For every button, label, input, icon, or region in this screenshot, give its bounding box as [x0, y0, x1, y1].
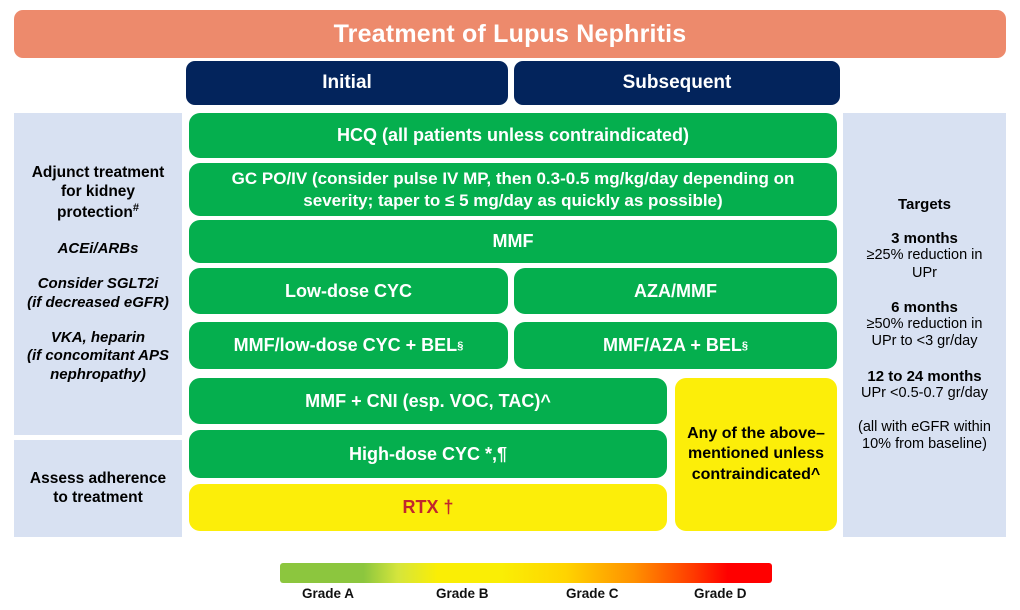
legend-label-grade-d: Grade D [694, 586, 747, 601]
grade-legend-labels: Grade A Grade B Grade C Grade D [280, 586, 772, 606]
mmf-aza-bel-marker: § [742, 340, 748, 352]
legend-label-grade-c: Grade C [566, 586, 619, 601]
target-6m-line1: ≥50% reduction in [867, 316, 983, 332]
treatment-box-mmf-cni: MMF + CNI (esp. VOC, TAC)^ [189, 378, 667, 424]
adjunct-title-line3: protection [57, 204, 133, 221]
vka-line1: VKA, heparin [51, 329, 145, 346]
target-3m-line2: UPr [912, 265, 937, 281]
adjunct-treatment-panel: Adjunct treatment for kidney protection#… [14, 113, 182, 435]
adherence-line2: to treatment [53, 489, 143, 506]
lupus-nephritis-treatment-diagram: Treatment of Lupus Nephritis Initial Sub… [0, 0, 1020, 610]
treatment-box-rtx: RTX † [189, 484, 667, 531]
adjunct-item-vka-heparin: VKA, heparin (if concomitant APS nephrop… [27, 329, 169, 384]
page-title: Treatment of Lupus Nephritis [14, 10, 1006, 58]
vka-line2: (if concomitant APS [27, 347, 169, 364]
treatment-box-mmf: MMF [189, 220, 837, 263]
any-above-line1: Any of the above– [687, 425, 825, 442]
legend-label-grade-b: Grade B [436, 586, 489, 601]
treatment-box-mmf-low-cyc-bel: MMF/low-dose CYC + BEL§ [189, 322, 508, 369]
column-header-subsequent: Subsequent [514, 61, 840, 105]
legend-label-grade-a: Grade A [302, 586, 354, 601]
grade-legend: Grade A Grade B Grade C Grade D [280, 563, 772, 606]
treatment-box-hcq: HCQ (all patients unless contraindicated… [189, 113, 837, 158]
target-desc-3-months: ≥25% reduction in UPr [867, 247, 983, 282]
target-desc-12-24-months: UPr <0.5-0.7 gr/day [861, 385, 988, 402]
adherence-line1: Assess adherence [30, 470, 166, 487]
treatment-box-aza-mmf: AZA/MMF [514, 268, 837, 314]
adjunct-item-acei-arbs: ACEi/ARBs [58, 240, 139, 258]
adjunct-title: Adjunct treatment for kidney protection# [32, 164, 165, 223]
gc-line1: GC PO/IV (consider pulse IV MP, then 0.3… [232, 169, 795, 188]
targets-note-line1: (all with eGFR within [858, 419, 991, 435]
adherence-text: Assess adherence to treatment [30, 470, 166, 508]
targets-note-line2: 10% from baseline) [862, 436, 987, 452]
treatment-box-low-dose-cyc: Low-dose CYC [189, 268, 508, 314]
targets-heading: Targets [898, 196, 951, 213]
adjunct-title-marker: # [133, 202, 139, 214]
rtx-label: RTX † [402, 497, 453, 518]
any-above-line2: mentioned unless [688, 445, 824, 462]
column-header-initial: Initial [186, 61, 508, 105]
sglt2i-line1: Consider SGLT2i [38, 275, 159, 292]
treatment-box-mmf-aza-bel: MMF/AZA + BEL§ [514, 322, 837, 369]
target-term-12-24-months: 12 to 24 months [867, 368, 981, 385]
adjunct-item-sglt2i: Consider SGLT2i (if decreased eGFR) [27, 275, 169, 312]
any-above-text: Any of the above– mentioned unless contr… [687, 424, 825, 484]
any-above-line3: contraindicated^ [692, 466, 820, 483]
adjunct-title-line1: Adjunct treatment [32, 164, 165, 181]
vka-line3: nephropathy) [50, 366, 146, 383]
target-3m-line1: ≥25% reduction in [867, 247, 983, 263]
targets-note: (all with eGFR within 10% from baseline) [858, 419, 991, 454]
treatment-box-any-above-mentioned: Any of the above– mentioned unless contr… [675, 378, 837, 531]
mmf-low-cyc-bel-label: MMF/low-dose CYC + BEL [234, 335, 458, 356]
gc-line2: severity; taper to ≤ 5 mg/day as quickly… [303, 191, 722, 210]
target-term-6-months: 6 months [891, 299, 958, 316]
mmf-aza-bel-label: MMF/AZA + BEL [603, 335, 742, 356]
adjunct-title-line2: for kidney [61, 183, 135, 200]
target-desc-6-months: ≥50% reduction in UPr to <3 gr/day [867, 316, 983, 351]
targets-panel: Targets 3 months ≥25% reduction in UPr 6… [843, 113, 1006, 537]
target-term-3-months: 3 months [891, 230, 958, 247]
assess-adherence-panel: Assess adherence to treatment [14, 440, 182, 537]
treatment-box-gc: GC PO/IV (consider pulse IV MP, then 0.3… [189, 163, 837, 216]
grade-gradient-bar [280, 563, 772, 583]
treatment-box-high-dose-cyc: High-dose CYC *,¶ [189, 430, 667, 478]
gc-text: GC PO/IV (consider pulse IV MP, then 0.3… [232, 168, 795, 212]
target-6m-line2: UPr to <3 gr/day [872, 333, 978, 349]
sglt2i-line2: (if decreased eGFR) [27, 294, 169, 311]
mmf-low-cyc-bel-marker: § [457, 340, 463, 352]
